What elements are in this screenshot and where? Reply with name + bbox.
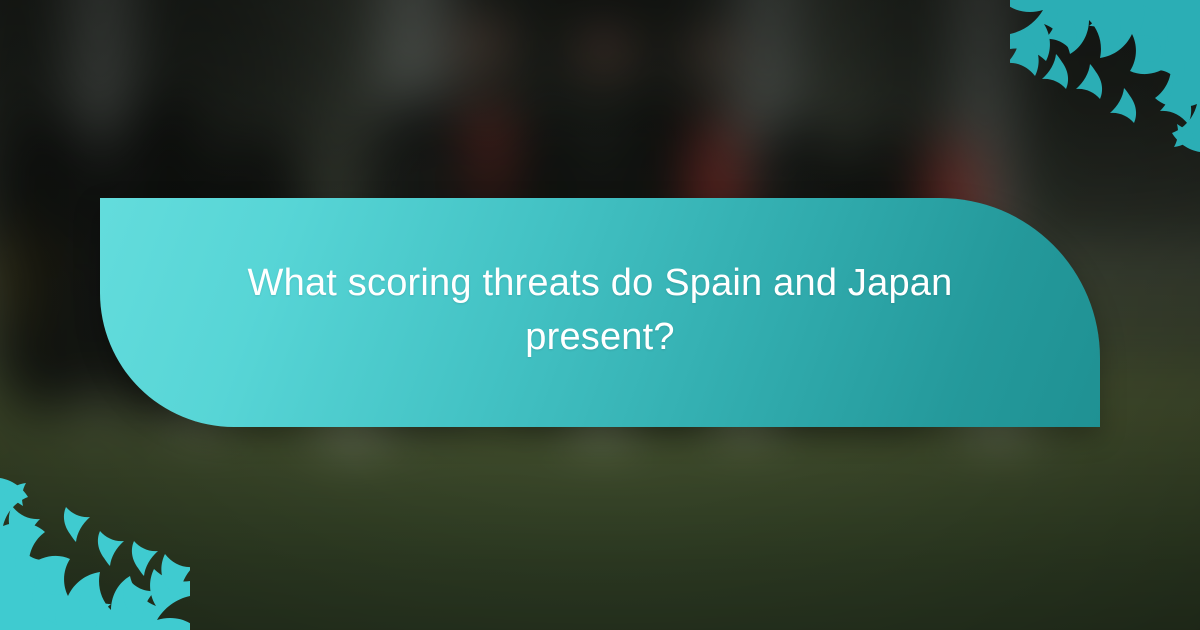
question-card-graphic: What scoring threats do Spain and Japan … bbox=[0, 0, 1200, 630]
question-card: What scoring threats do Spain and Japan … bbox=[100, 198, 1100, 427]
ornament-corner-bottom-left bbox=[0, 478, 190, 630]
ornament-corner-top-right bbox=[1010, 0, 1200, 152]
question-text: What scoring threats do Spain and Japan … bbox=[240, 257, 960, 369]
